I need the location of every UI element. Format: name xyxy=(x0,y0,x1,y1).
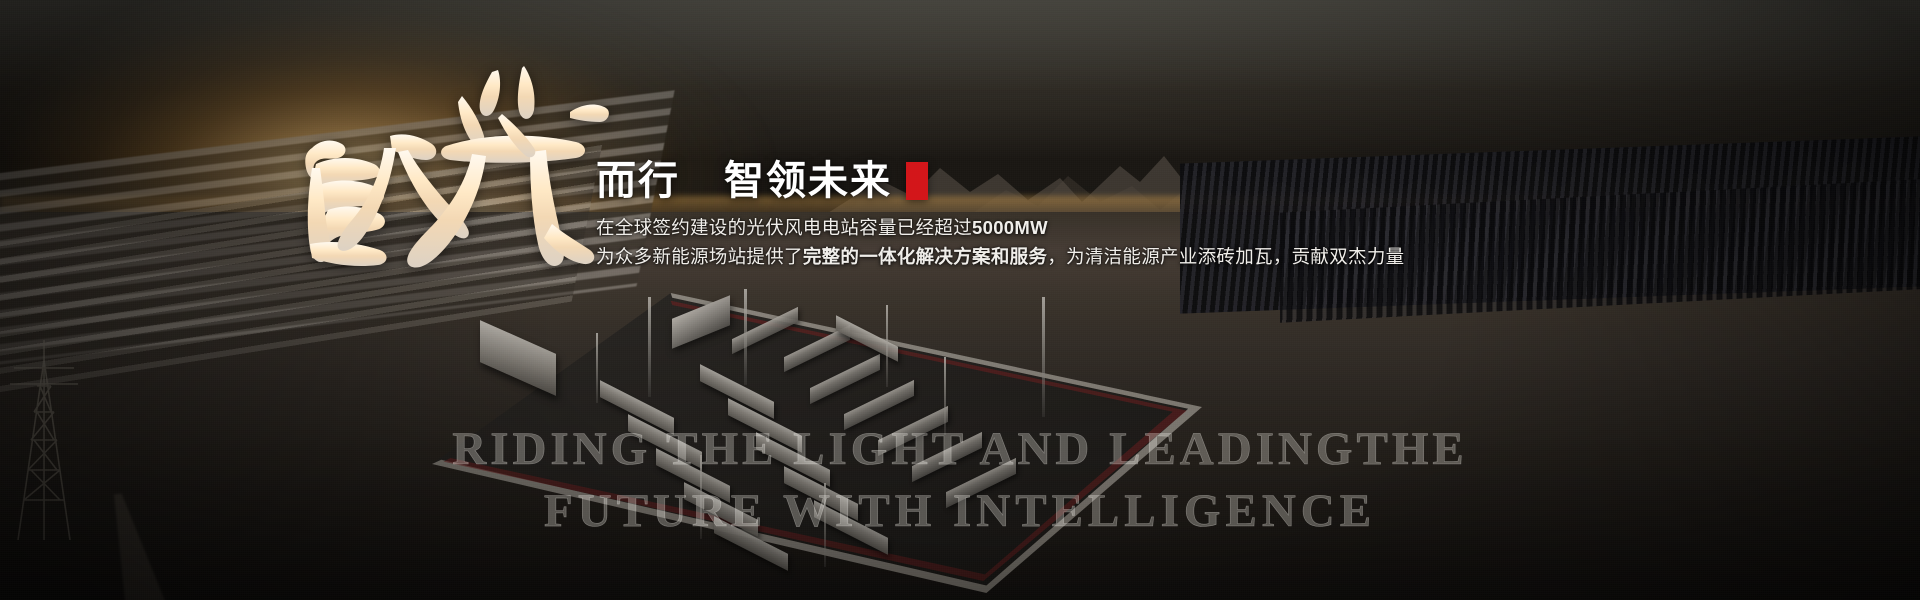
subtitle-2-plain-b: ，为清洁能源产业添砖加瓦，贡献双杰力量 xyxy=(1047,246,1404,267)
lighting-mast xyxy=(744,289,747,385)
subtitle-2-bold: 完整的一体化解决方案和服务 xyxy=(803,246,1047,267)
subtitle-1-bold: 5000MW xyxy=(972,217,1048,238)
hero-banner: 而行 智领未来 在全球签约建设的光伏风电电站容量已经超过5000MW 为众多新能… xyxy=(0,0,1920,600)
subtitle-line-1: 在全球签约建设的光伏风电电站容量已经超过5000MW xyxy=(596,214,1496,243)
lighting-mast xyxy=(1042,297,1045,417)
control-building xyxy=(480,320,556,396)
lighting-mast xyxy=(596,333,598,403)
headline-text-block: 而行 智领未来 在全球签约建设的光伏风电电站容量已经超过5000MW 为众多新能… xyxy=(596,160,1496,271)
battery-storage-compound xyxy=(432,245,1202,600)
red-accent-block xyxy=(906,162,928,200)
headline: 而行 智领未来 xyxy=(596,160,1496,202)
lighting-mast xyxy=(944,357,946,435)
headline-part-b: 智领未来 xyxy=(724,160,892,202)
lighting-mast xyxy=(824,483,826,567)
transmission-pylon xyxy=(0,340,90,540)
subtitle-line-2: 为众多新能源场站提供了完整的一体化解决方案和服务，为清洁能源产业添砖加瓦，贡献双… xyxy=(596,243,1496,272)
subtitle-1-plain-a: 在全球签约建设的光伏风电电站容量已经超过 xyxy=(596,217,972,238)
lighting-mast xyxy=(648,297,651,397)
lighting-mast xyxy=(886,305,888,387)
lighting-mast xyxy=(700,455,702,539)
subtitle-2-plain-a: 为众多新能源场站提供了 xyxy=(596,246,803,267)
headline-part-a: 而行 xyxy=(596,160,680,202)
